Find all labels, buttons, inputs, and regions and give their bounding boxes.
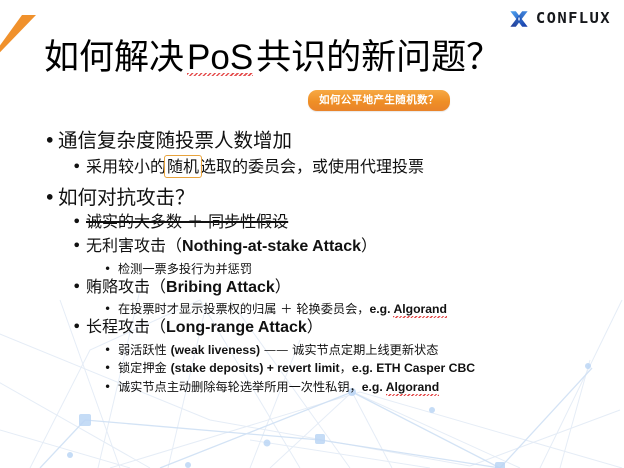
callout-bubble: 如何公平地产生随机数？: [308, 90, 450, 111]
list-item-spellchecked-word: Algorand: [393, 302, 447, 316]
list-item-label: 检测一票多投行为并惩罚: [118, 262, 252, 276]
list-item: •锁定押金 (stake deposits) + revert limit，e.…: [104, 362, 475, 374]
callout-text: 如何公平地产生随机数？: [308, 90, 450, 111]
bullet-marker: •: [104, 381, 118, 393]
list-item: •诚实节点主动删除每轮选举所用一次性私钥，e.g. Algorand: [104, 381, 439, 393]
list-item: •诚实的大多数 ＋ 同步性假设: [72, 214, 288, 230]
bullet-marker: •: [72, 279, 86, 295]
list-item-label-post: ，: [340, 361, 352, 375]
list-item-label: 无利害攻击（: [86, 236, 182, 255]
list-item: •采用较小的随机选取的委员会，或使用代理投票: [72, 159, 424, 175]
list-item-label-pre: 诚实节点主动删除每轮选举所用一次性私钥，: [118, 380, 362, 394]
bullet-marker: •: [72, 238, 86, 254]
bullet-marker: •: [44, 131, 58, 151]
list-item-label-pre: 锁定押金: [118, 361, 171, 375]
bullet-marker: •: [104, 362, 118, 374]
bullet-marker: •: [44, 188, 58, 208]
conflux-wordmark: CONFLUX: [536, 11, 611, 27]
list-item: •在投票时才显示投票权的归属 ＋ 轮换委员会，e.g. Algorand: [104, 303, 447, 315]
list-item-latin: (weak liveness): [171, 343, 260, 357]
list-item: •如何对抗攻击？: [44, 188, 195, 208]
list-item-label-pre: 在投票时才显示投票权的归属 ＋ 轮换委员会，: [118, 302, 370, 316]
bullet-body: •通信复杂度随投票人数增加 •采用较小的随机选取的委员会，或使用代理投票 •如何…: [0, 0, 624, 468]
list-item-tail: ）: [307, 317, 323, 336]
list-item-label: 长程攻击（: [86, 317, 166, 336]
callout-tail-icon: [0, 13, 38, 75]
list-item: •无利害攻击（Nothing-at-stake Attack）: [72, 238, 377, 255]
list-item-label: 贿赂攻击（: [86, 277, 166, 296]
bullet-marker: •: [104, 263, 118, 275]
list-item-label-post: 选取的委员会，或使用代理投票: [200, 157, 424, 176]
list-item-spellchecked-word: Algorand: [386, 380, 440, 394]
list-item: •弱活跃性 (weak liveness) —— 诚实节点定期上线更新状态: [104, 344, 438, 356]
conflux-x-logo-icon: [508, 9, 530, 29]
list-item-latin-2: e.g. ETH Casper CBC: [352, 361, 475, 375]
list-item-latin: Bribing Attack: [166, 279, 275, 296]
list-item-latin: Nothing-at-stake Attack: [182, 238, 361, 255]
slide-canvas: CONFLUX 如何解决PoS共识的新问题？ 如何公平地产生随机数？ •通信复杂…: [0, 0, 624, 468]
bullet-marker: •: [72, 159, 86, 175]
list-item-latin: (stake deposits) + revert limit: [171, 361, 340, 375]
list-item-label-pre: 采用较小的: [86, 157, 166, 176]
highlight-box-random: 随机: [166, 157, 200, 176]
list-item-latin: Long-range Attack: [166, 319, 307, 336]
list-item: •检测一票多投行为并惩罚: [104, 263, 252, 275]
list-item-label: 如何对抗攻击？: [58, 186, 195, 209]
list-item-label-post: —— 诚实节点定期上线更新状态: [260, 343, 438, 357]
conflux-logo: CONFLUX: [508, 9, 611, 29]
list-item: •长程攻击（Long-range Attack）: [72, 319, 323, 336]
bullet-marker: •: [104, 303, 118, 315]
list-item-tail: ）: [361, 236, 377, 255]
list-item-latin: e.g.: [362, 380, 386, 394]
bullet-marker: •: [104, 344, 118, 356]
list-item-tail: ）: [275, 277, 291, 296]
list-item-label: 通信复杂度随投票人数增加: [58, 129, 292, 152]
bullet-marker: •: [72, 319, 86, 335]
list-item: •贿赂攻击（Bribing Attack）: [72, 279, 291, 296]
list-item: •通信复杂度随投票人数增加: [44, 131, 292, 151]
list-item-label-strikethrough: 诚实的大多数 ＋ 同步性假设: [86, 212, 288, 231]
bullet-marker: •: [72, 214, 86, 230]
list-item-latin: e.g.: [370, 302, 394, 316]
list-item-label-pre: 弱活跃性: [118, 343, 171, 357]
